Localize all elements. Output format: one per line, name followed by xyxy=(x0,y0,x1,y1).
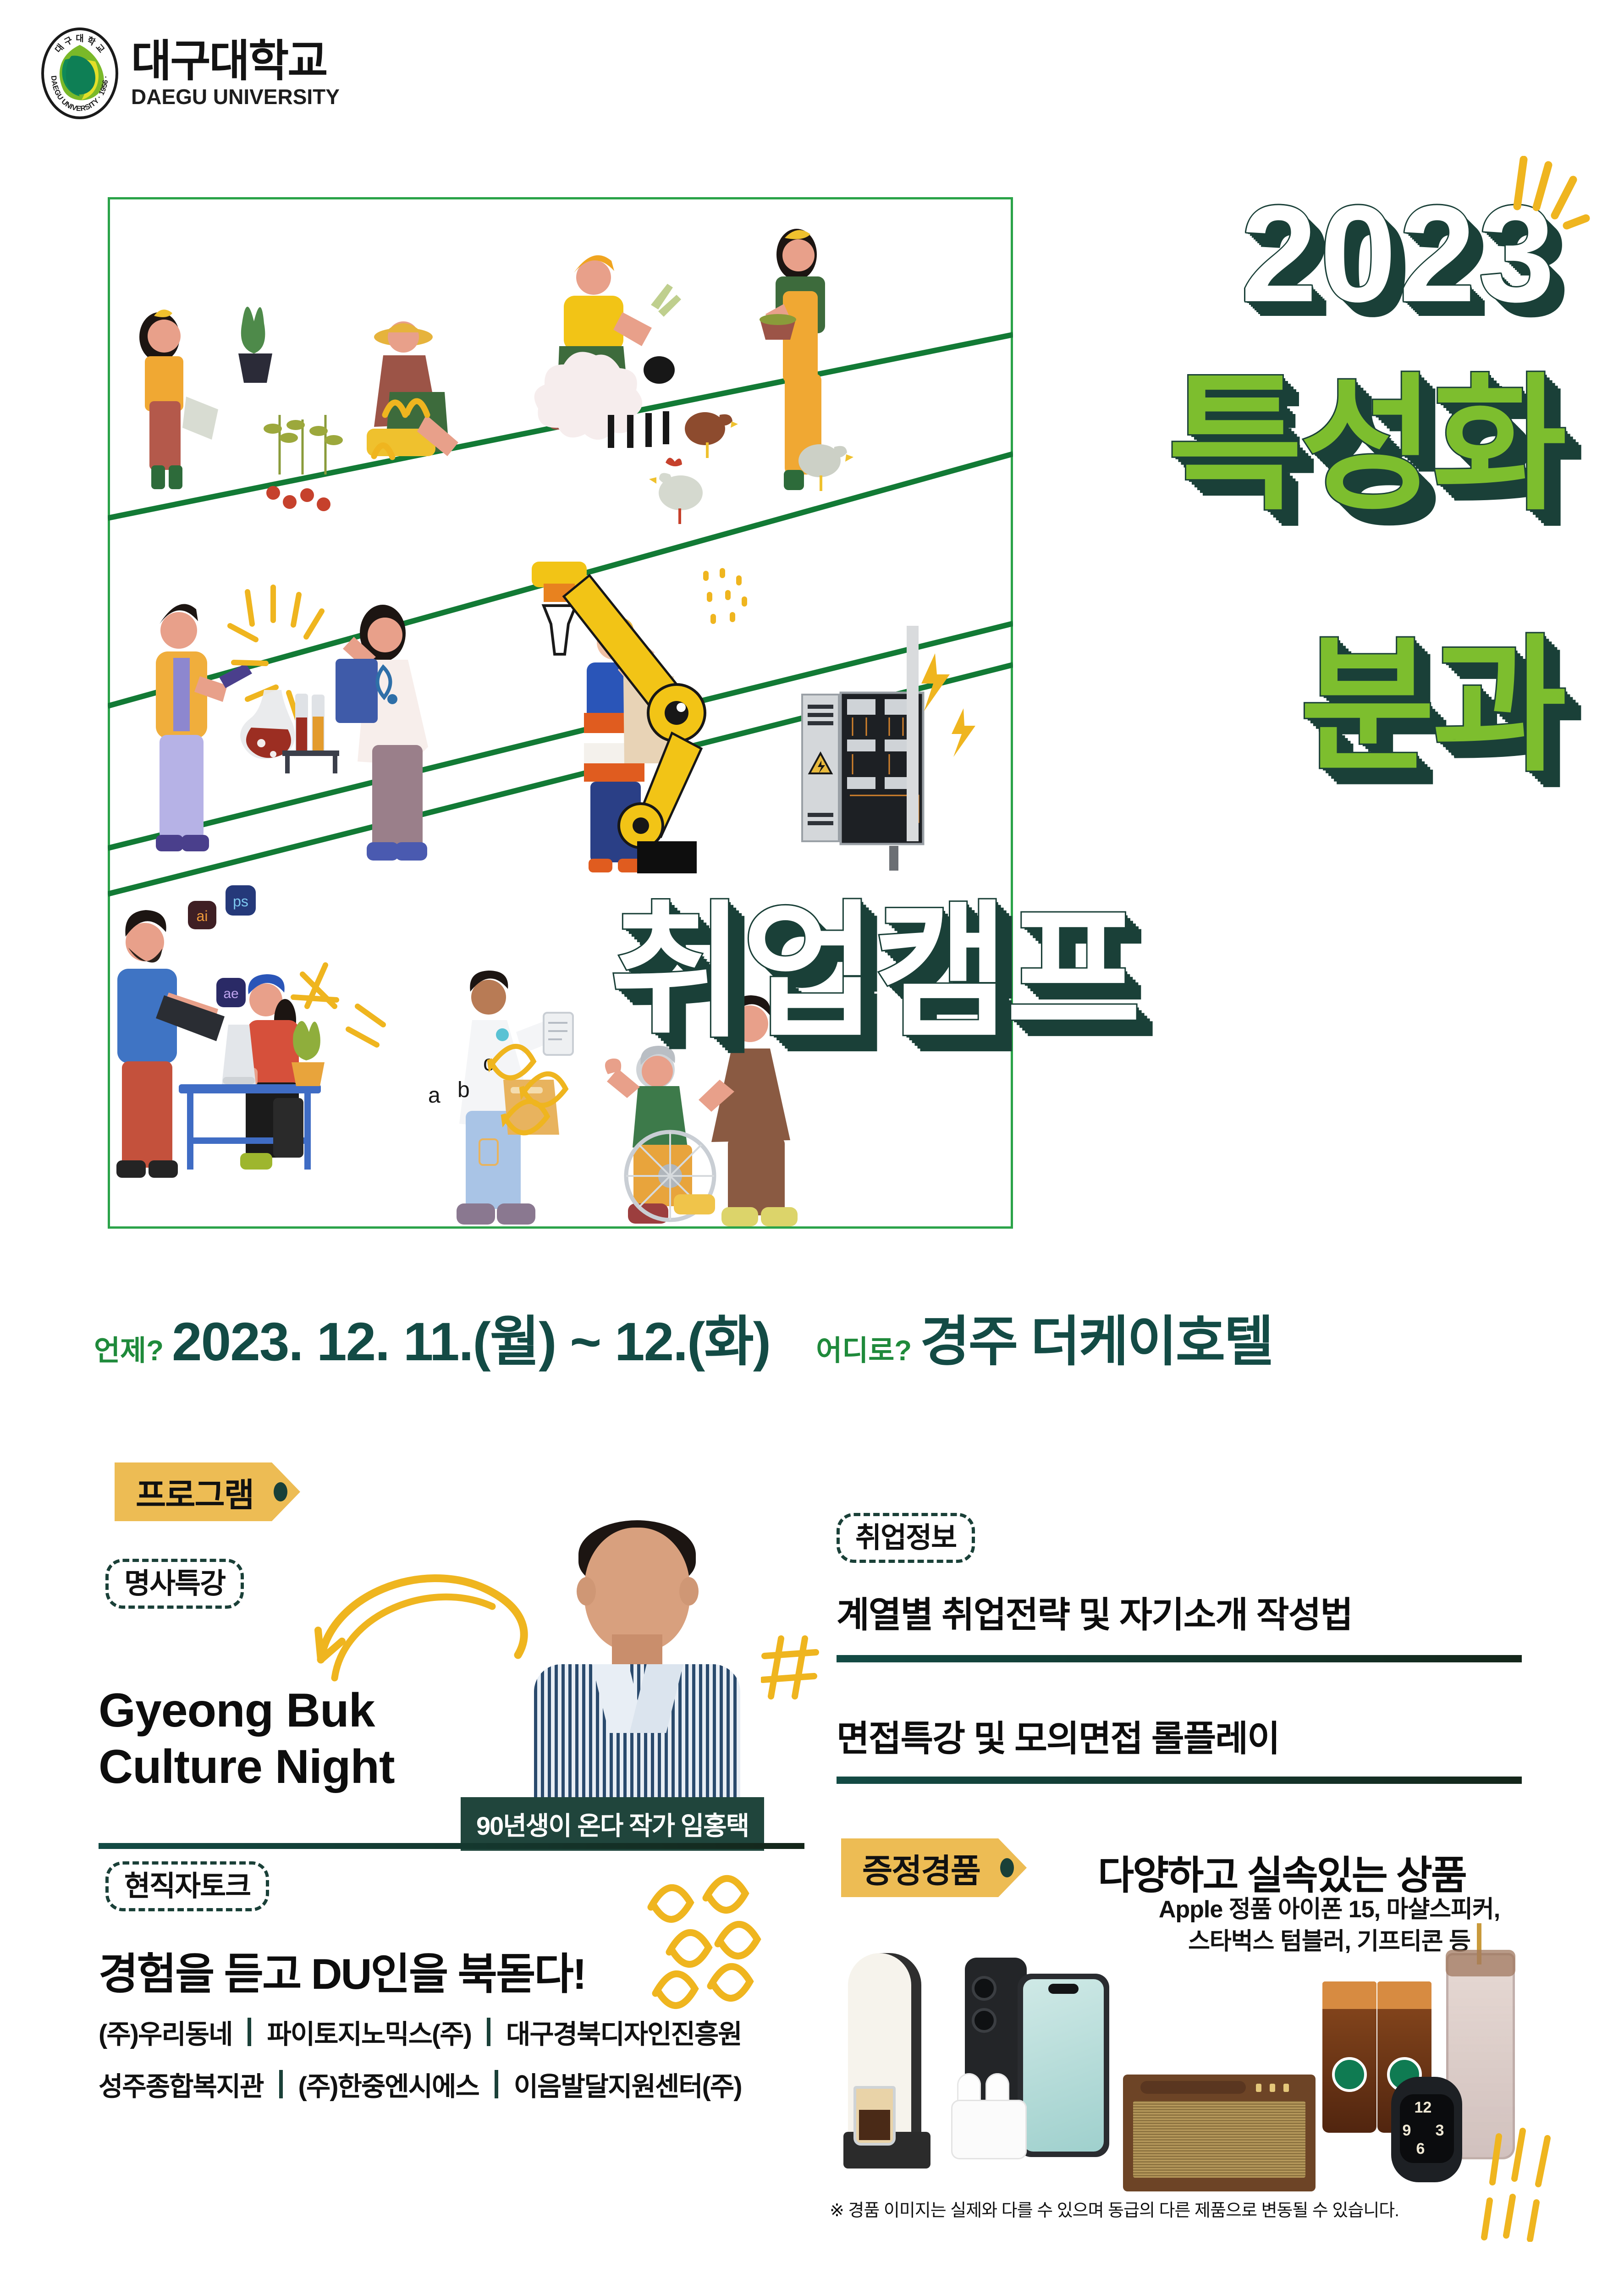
tag-dot-icon xyxy=(274,1482,287,1501)
svg-text:ps: ps xyxy=(233,893,248,910)
company-name: 성주종합복지관 xyxy=(99,2065,264,2103)
svg-text:대 구 대 학 교: 대 구 대 학 교 xyxy=(53,33,106,55)
company-row: 성주종합복지관 (주)한중엔시에스 이음발달지원센터(주) xyxy=(99,2065,814,2103)
gift-section-tag: 증정경품 xyxy=(841,1838,998,1897)
cold-brew-ice xyxy=(1377,1981,1431,2009)
hash-doodle-icon xyxy=(761,1632,825,1705)
marshall-knob xyxy=(1256,2084,1261,2092)
company-list: (주)우리동네 파이토지노믹스(주) 대구경북디자인진흥원 성주종합복지관 (주… xyxy=(99,2013,814,2103)
special-lecture-title-line-1: Gyeong Buk xyxy=(99,1683,395,1739)
where-label: 어디로? xyxy=(816,1327,912,1368)
science-engineering-illustration xyxy=(110,562,1015,883)
practitioner-talk-headline: 경험을 듣고 DU인을 북돋다! xyxy=(99,1939,585,2002)
agriculture-illustration xyxy=(110,199,1015,548)
career-info-divider-1 xyxy=(837,1655,1522,1662)
speaker-face xyxy=(584,1528,690,1651)
prize-disclaimer: ※ 경품 이미지는 실제와 다를 수 있으며 동급의 다른 제품으로 변동될 수… xyxy=(830,2196,1399,2221)
gift-headline: 다양하고 실속있는 상품 xyxy=(1098,1843,1466,1900)
starbucks-logo-icon xyxy=(1332,2057,1367,2092)
marshall-speaker-image xyxy=(1123,2075,1316,2191)
logo-english-name: DAEGU UNIVERSITY xyxy=(131,86,340,107)
when-value: 2023. 12. 11.(월) ~ 12.(화) xyxy=(172,1297,770,1376)
svg-text:DAEGU UNIVERSITY · 1956 ·: DAEGU UNIVERSITY · 1956 · xyxy=(50,75,110,113)
career-info-tag: 취업정보 xyxy=(837,1513,975,1563)
hero-title-line-2: 분과 xyxy=(1300,642,1564,771)
svg-text:ai: ai xyxy=(197,908,208,924)
marshall-top-panel xyxy=(1140,2081,1246,2094)
special-lecture-title-line-2: Culture Night xyxy=(99,1739,395,1795)
left-column-divider xyxy=(99,1843,804,1849)
university-logo: 대 구 대 학 교 DAEGU UNIVERSITY · 1956 · 대구대학… xyxy=(41,28,340,119)
iphone-15-image xyxy=(1018,1974,1109,2157)
company-name: 파이토지노믹스(주) xyxy=(267,2013,471,2051)
company-name: 이음발달지원센터(주) xyxy=(514,2065,742,2103)
iphone-dynamic-island xyxy=(1048,1984,1079,1994)
career-info-divider-2 xyxy=(837,1777,1522,1784)
company-row: (주)우리동네 파이토지노믹스(주) 대구경북디자인진흥원 xyxy=(99,2013,814,2051)
marshall-grill xyxy=(1133,2101,1305,2178)
event-datetime-row: 언제? 2023. 12. 11.(월) ~ 12.(화) 어디로? 경주 더케… xyxy=(94,1297,1538,1376)
company-separator xyxy=(248,2018,251,2046)
daegu-university-seal-icon: 대 구 대 학 교 DAEGU UNIVERSITY · 1956 · xyxy=(41,28,118,119)
special-lecture-tag: 명사특강 xyxy=(105,1559,244,1609)
iphone-camera-lens-top xyxy=(972,1976,996,2001)
career-info-item-1: 계열별 취업전략 및 자기소개 작성법 xyxy=(837,1586,1352,1638)
speaker-photo xyxy=(518,1517,756,1838)
company-name: (주)한중엔시에스 xyxy=(298,2065,479,2103)
svg-text:a: a xyxy=(428,1083,440,1108)
hero-title-line-3: 취업캠프 xyxy=(610,908,1139,1037)
special-lecture-title: Gyeong Buk Culture Night xyxy=(99,1683,395,1795)
svg-text:ae: ae xyxy=(223,986,238,1001)
marshall-knob xyxy=(1270,2084,1275,2092)
cold-brew-ice xyxy=(1322,1981,1376,2009)
seal-ring-text-icon: 대 구 대 학 교 DAEGU UNIVERSITY · 1956 · xyxy=(41,28,118,119)
tag-dot-icon xyxy=(1000,1858,1014,1877)
speaker-ear-left xyxy=(577,1577,596,1606)
yellow-stroke-doodle-icon xyxy=(1481,2127,1586,2242)
practitioner-talk-tag: 현직자토크 xyxy=(105,1861,269,1911)
speaker-ear-right xyxy=(679,1577,699,1606)
company-name: 대구경북디자인진흥원 xyxy=(506,2013,742,2051)
iphone-screen xyxy=(1023,1979,1104,2152)
gift-tag-label: 증정경품 xyxy=(862,1844,980,1892)
when-label: 언제? xyxy=(94,1327,164,1368)
nespresso-coffee-cup xyxy=(853,2086,896,2146)
illustration-frame: ai ps ae a b xyxy=(108,197,1013,1229)
hero-year: 2023 xyxy=(1241,190,1558,317)
squiggle-doodle-icon xyxy=(642,1871,793,2022)
company-name: (주)우리동네 xyxy=(99,2013,232,2051)
career-info-item-2: 면접특강 및 모의면접 롤플레이 xyxy=(837,1710,1279,1761)
company-separator xyxy=(495,2070,498,2098)
company-separator xyxy=(487,2018,490,2046)
starbucks-cold-brew-image xyxy=(1322,1981,1376,2133)
apple-watch-image: 12 3 6 9 xyxy=(1391,2077,1462,2182)
svg-text:b: b xyxy=(457,1078,470,1102)
prize-product-images: 12 3 6 9 xyxy=(834,1948,1522,2214)
iphone-camera-lens-bottom xyxy=(972,2008,996,2033)
program-tag-label: 프로그램 xyxy=(136,1468,253,1516)
sparkle-icon xyxy=(1513,156,1604,248)
airpods-case-image xyxy=(951,2100,1027,2159)
where-value: 경주 더케이호텔 xyxy=(920,1297,1272,1376)
logo-korean-name: 대구대학교 xyxy=(131,39,340,83)
company-separator xyxy=(279,2070,283,2098)
marshall-knob xyxy=(1283,2084,1289,2092)
apple-watch-face: 12 3 6 9 xyxy=(1400,2094,1454,2163)
tumbler-lid xyxy=(1446,1950,1515,1976)
hero-title-line-1: 특성화 xyxy=(1168,381,1564,510)
gift-subtext-line-1: Apple 정품 아이폰 15, 마샬스피커, xyxy=(1100,1893,1558,1926)
program-section-tag: 프로그램 xyxy=(115,1462,272,1521)
